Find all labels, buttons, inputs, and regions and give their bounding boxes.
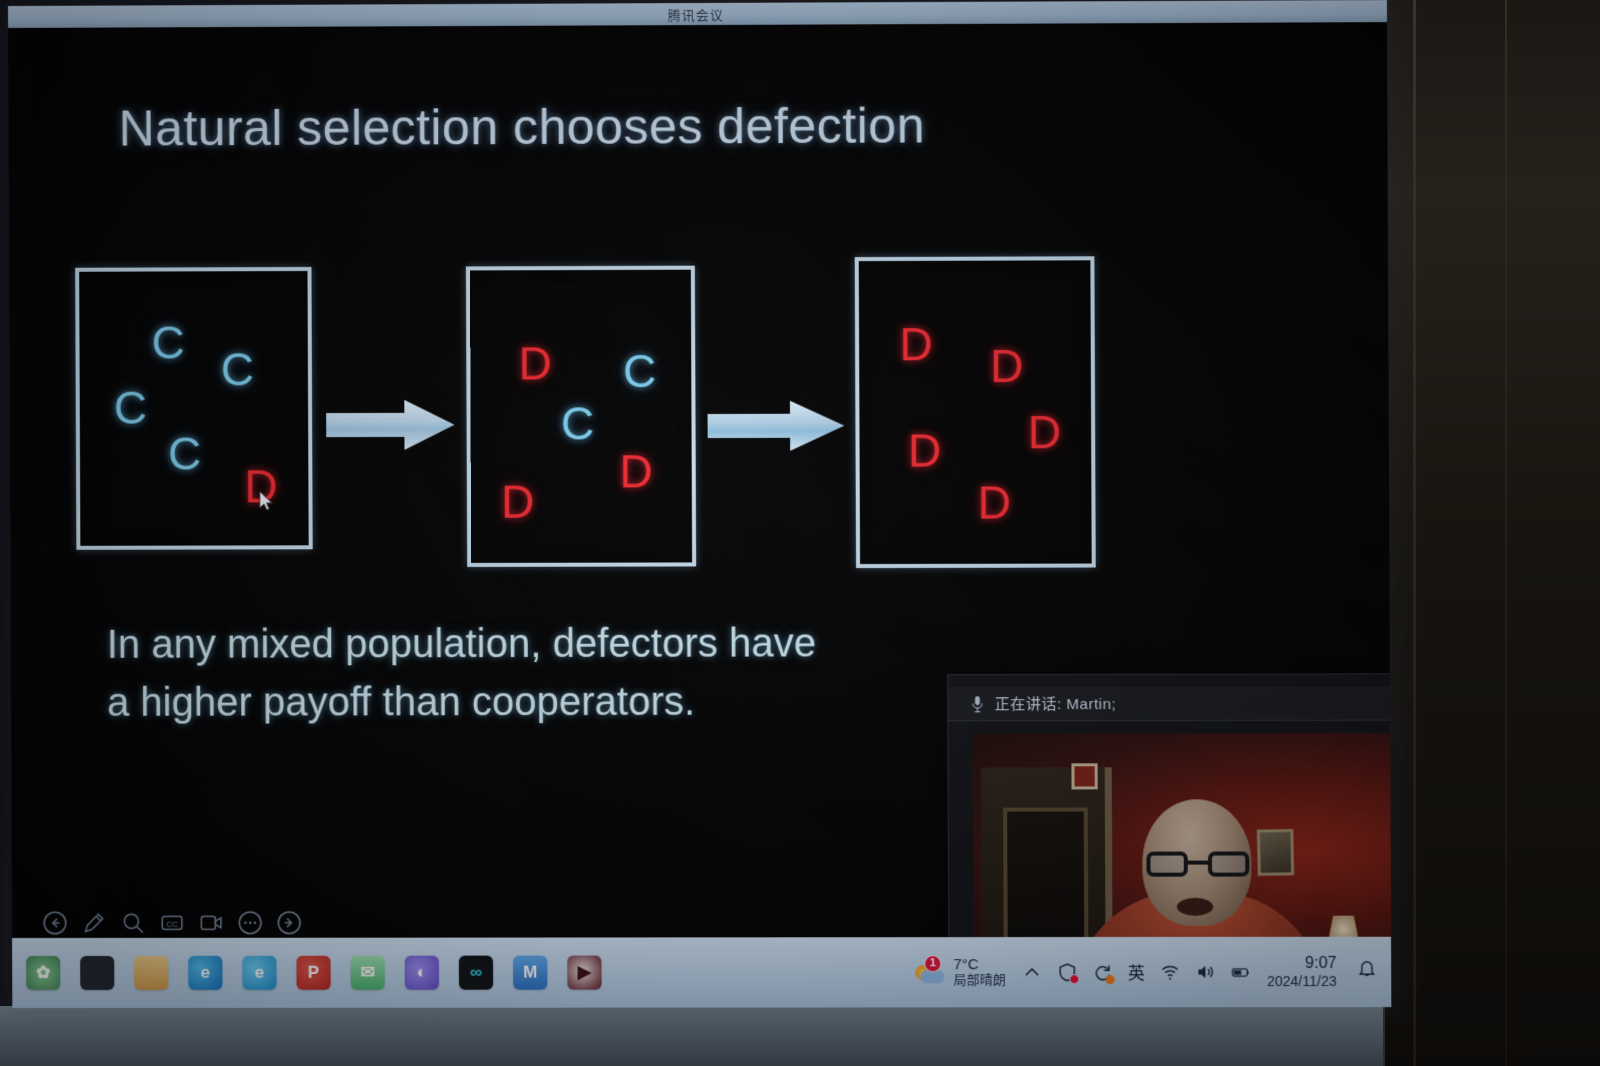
background-small-frame — [1071, 763, 1097, 789]
screenshot-root: 腾讯会议 Natural selection chooses defection… — [0, 0, 1600, 1066]
taskbar-right-region[interactable]: 1 7°C 局部晴朗 — [913, 954, 1391, 991]
windows-taskbar[interactable]: ✿ e e P ✉ ◐ ∞ M ▶ 1 — [12, 937, 1391, 1008]
agent-cooperator: C — [623, 348, 657, 394]
agent-cooperator: C — [221, 346, 254, 392]
taskbar-icon-file-explorer[interactable] — [134, 956, 168, 990]
population-box-2: D C C D D — [466, 266, 696, 567]
network-tray-icon[interactable] — [1160, 962, 1180, 982]
weather-badge-count: 1 — [924, 955, 941, 972]
agent-cooperator: C — [561, 400, 595, 446]
more-options-button[interactable] — [235, 908, 265, 938]
slide-body-text: In any mixed population, defectors have … — [107, 614, 1011, 732]
notification-center-button[interactable] — [1357, 959, 1377, 984]
agent-defector: D — [1028, 409, 1062, 455]
agent-cooperator: C — [168, 430, 201, 476]
agent-defector: D — [990, 343, 1024, 389]
agent-defector: D — [619, 448, 653, 494]
clock-time: 9:07 — [1267, 954, 1337, 973]
weather-widget[interactable]: 1 7°C 局部晴朗 — [913, 956, 1006, 988]
participant-video-overlay[interactable]: 正在讲话: Martin; — [947, 673, 1391, 938]
volume-tray-icon[interactable] — [1195, 962, 1215, 982]
agent-cooperator: C — [114, 385, 147, 431]
taskbar-icon-powerpoint[interactable]: P — [296, 956, 330, 990]
taskbar-app-icons[interactable]: ✿ e e P ✉ ◐ ∞ M ▶ — [12, 956, 601, 991]
mouse-cursor — [258, 490, 274, 512]
agent-defector: D — [501, 479, 535, 525]
show-hidden-icons-button[interactable] — [1022, 962, 1042, 982]
taskbar-icon-mindmaster[interactable]: M — [513, 956, 547, 990]
captions-button[interactable]: CC — [157, 908, 187, 938]
weather-text: 7°C 局部晴朗 — [953, 956, 1006, 988]
slide-body-line-1: In any mixed population, defectors have — [107, 614, 1011, 674]
security-tray-icon[interactable] — [1057, 962, 1077, 982]
taskbar-icon-onedrive[interactable]: ◐ — [405, 956, 439, 990]
meeting-app-title: 腾讯会议 — [668, 4, 724, 23]
presenter-view-button[interactable] — [196, 908, 226, 938]
desk-surface — [0, 1006, 1383, 1066]
taskbar-icon-file-explorer-dark[interactable] — [80, 956, 114, 990]
weather-description: 局部晴朗 — [953, 973, 1005, 988]
partly-sunny-icon: 1 — [913, 957, 945, 987]
taskbar-icon-edge-legacy[interactable]: e — [242, 956, 276, 990]
taskbar-icon-lotus[interactable]: ✿ — [26, 956, 60, 990]
system-tray[interactable]: 英 — [1022, 959, 1251, 984]
background-doorway — [981, 767, 1113, 938]
agent-defector: D — [977, 479, 1011, 525]
powerpoint-control-bar[interactable]: CC — [40, 908, 304, 938]
ime-language-indicator[interactable]: 英 — [1128, 960, 1145, 985]
agent-defector: D — [899, 321, 933, 367]
sync-tray-icon[interactable] — [1092, 962, 1112, 982]
background-picture — [1257, 829, 1294, 876]
population-box-1: C C C C D — [75, 267, 313, 550]
powerpoint-slide: Natural selection chooses defection C C … — [8, 22, 1391, 938]
background-lamp — [1326, 916, 1360, 938]
wall-panel-right — [1383, 0, 1600, 1066]
taskbar-icon-tencent-meeting[interactable]: ∞ — [459, 956, 493, 990]
clock-date: 2024/11/23 — [1267, 973, 1337, 990]
arrow-stage2-to-stage3 — [707, 400, 844, 453]
participant-mouth — [1177, 898, 1213, 916]
battery-tray-icon[interactable] — [1231, 962, 1251, 982]
agent-defector: D — [518, 340, 552, 386]
video-feed — [973, 733, 1391, 938]
taskbar-icon-edge[interactable]: e — [188, 956, 222, 990]
weather-temperature: 7°C — [953, 956, 1005, 973]
agent-cooperator: C — [151, 319, 184, 365]
agent-defector: D — [908, 427, 942, 473]
pen-tool-button[interactable] — [79, 908, 109, 938]
previous-slide-button[interactable] — [40, 908, 70, 938]
arrow-stage1-to-stage2 — [326, 399, 455, 451]
active-speaker-text: 正在讲话: Martin; — [995, 693, 1117, 714]
microphone-icon — [970, 695, 984, 713]
svg-text:CC: CC — [166, 920, 178, 929]
taskbar-icon-media-player[interactable]: ▶ — [567, 956, 601, 990]
participant-glasses — [1146, 851, 1249, 877]
population-box-3: D D D D D — [855, 256, 1096, 568]
projected-screen: 腾讯会议 Natural selection chooses defection… — [8, 0, 1391, 1008]
slide-body-line-2: a higher payoff than cooperators. — [107, 672, 1011, 732]
taskbar-clock[interactable]: 9:07 2024/11/23 — [1267, 954, 1337, 990]
next-slide-button[interactable] — [274, 908, 304, 938]
active-speaker-bar: 正在讲话: Martin; — [948, 686, 1391, 721]
zoom-button[interactable] — [118, 908, 148, 938]
taskbar-icon-wechat[interactable]: ✉ — [351, 956, 385, 990]
